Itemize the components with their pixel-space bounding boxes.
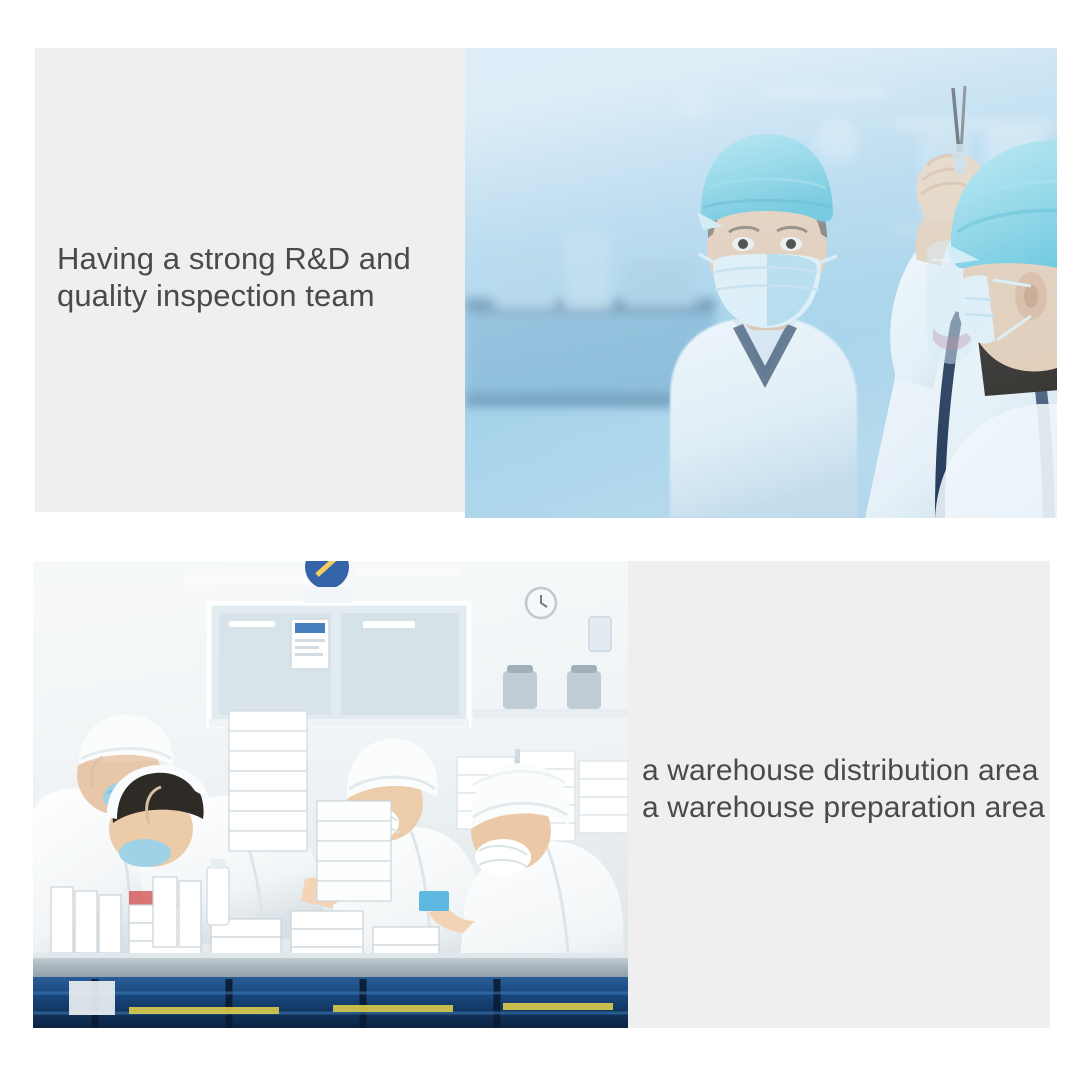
- caption-text-rnd: Having a strong R&D and quality inspecti…: [57, 240, 457, 314]
- laboratory-inspection-photo: [465, 48, 1057, 518]
- caption-text-warehouse: a warehouse distribution area a warehous…: [642, 752, 1052, 826]
- warehouse-packing-photo: [33, 561, 628, 1028]
- layout-board: Having a strong R&D and quality inspecti…: [0, 0, 1080, 1080]
